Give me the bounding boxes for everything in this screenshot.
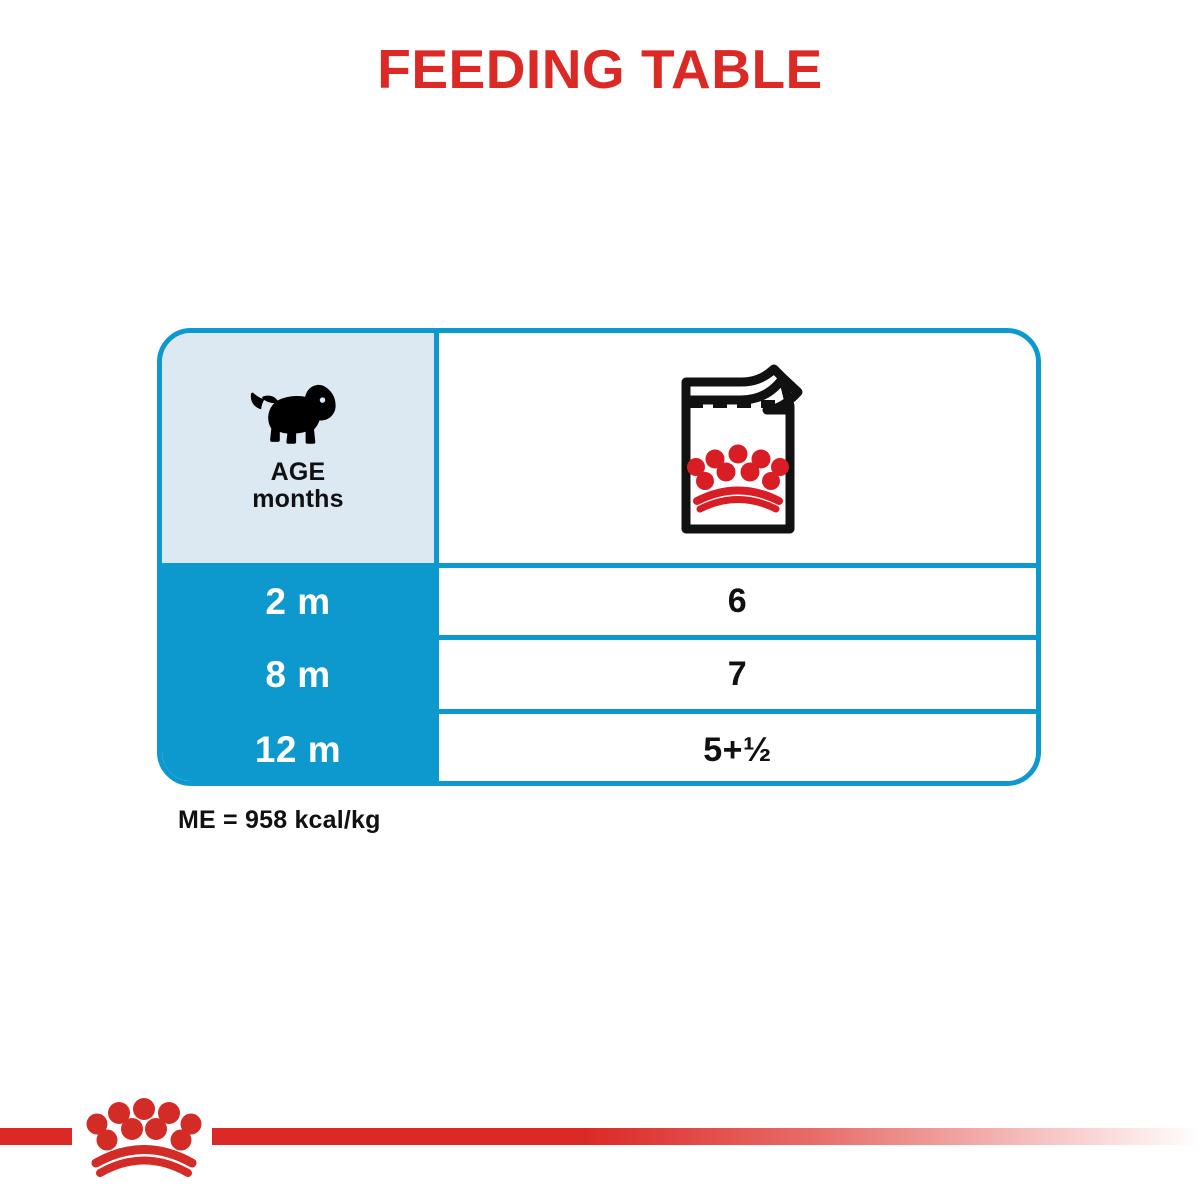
portion-value: 7 xyxy=(728,655,747,694)
pouch-icon xyxy=(667,362,809,534)
age-label-line2: months xyxy=(252,486,343,513)
puppy-icon xyxy=(246,383,350,445)
age-value: 12 m xyxy=(255,729,341,771)
table-row: 8 m xyxy=(162,640,434,709)
table-row: 2 m xyxy=(162,568,434,635)
table-row: 12 m xyxy=(162,714,434,786)
feeding-table-frame: AGE months xyxy=(157,328,1041,786)
portion-value: 5+½ xyxy=(703,731,772,770)
portion-value: 6 xyxy=(728,582,747,621)
feeding-table: AGE months xyxy=(157,328,1041,786)
table-row: 6 xyxy=(439,568,1036,635)
footer-rule-left xyxy=(0,1128,72,1145)
age-column-label: AGE months xyxy=(252,459,343,513)
age-value: 8 m xyxy=(265,654,330,696)
age-label-line1: AGE xyxy=(252,459,343,486)
footer-brand-bar xyxy=(0,1092,1200,1200)
footer-rule-right xyxy=(212,1128,1200,1145)
age-value: 2 m xyxy=(265,581,330,623)
table-row: 7 xyxy=(439,640,1036,709)
page-title: FEEDING TABLE xyxy=(0,38,1200,100)
portion-column-header xyxy=(439,333,1036,563)
royal-canin-crown-logo xyxy=(74,1095,214,1183)
table-row: 5+½ xyxy=(439,714,1036,786)
metabolizable-energy-note: ME = 958 kcal/kg xyxy=(178,806,381,835)
age-column-header: AGE months xyxy=(162,333,434,563)
